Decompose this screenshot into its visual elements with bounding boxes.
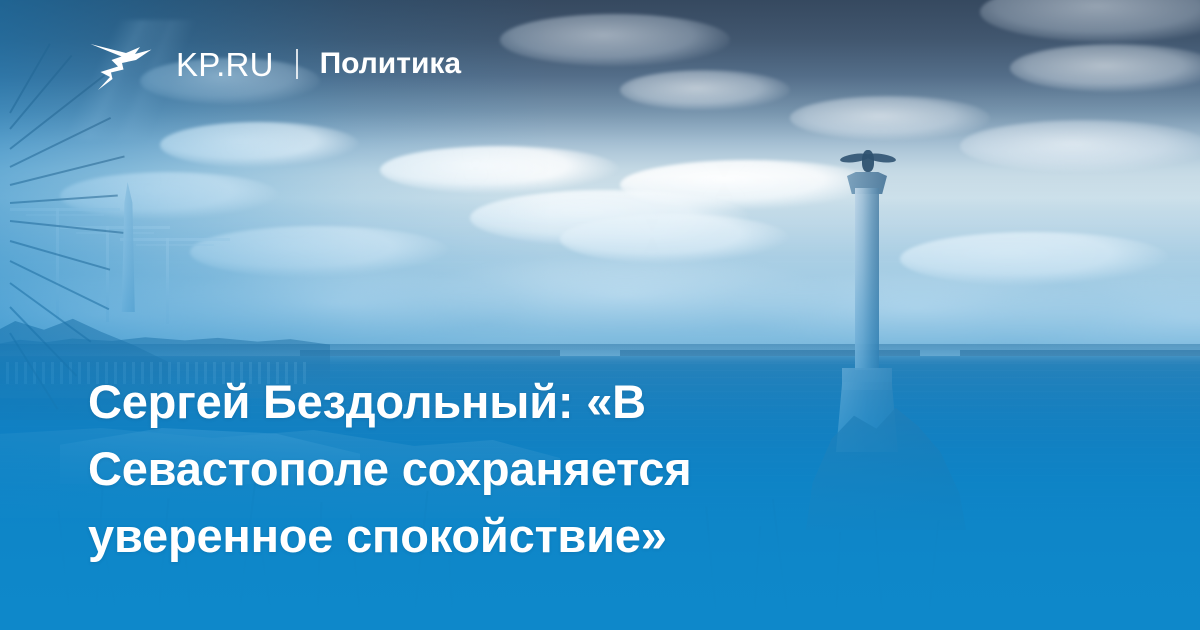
rubric-label[interactable]: Политика xyxy=(320,49,461,79)
share-card: KP.RU Политика Сергей Бездольный: «В Сев… xyxy=(0,0,1200,630)
site-header: KP.RU Политика xyxy=(88,36,461,92)
header-separator xyxy=(296,49,298,79)
brand-name[interactable]: KP.RU xyxy=(176,48,274,81)
headline-title: Сергей Бездольный: «В Севастополе сохран… xyxy=(88,368,848,569)
swallow-bird-logo-icon[interactable] xyxy=(88,36,154,92)
